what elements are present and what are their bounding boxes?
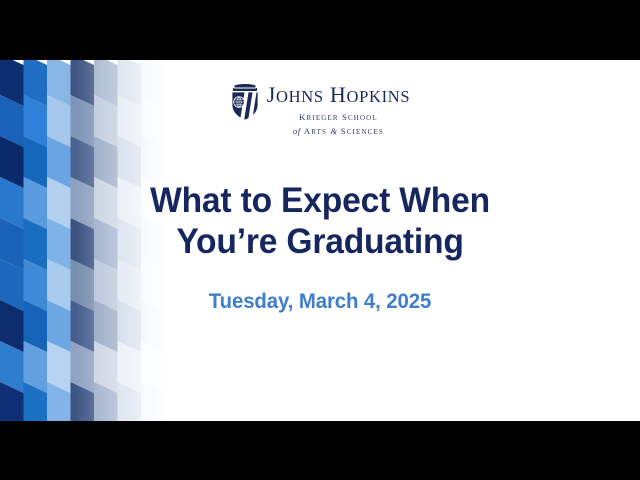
logo-division-line2: of ARTS & SCIENCES	[293, 126, 384, 137]
logo-wordmark: JOHNS HOPKINS	[267, 84, 411, 106]
division-ampersand: &	[330, 126, 337, 136]
wordmark-j: J	[267, 82, 276, 107]
slide-frame: JOHNS HOPKINS KRIEGER SCHOOL of ARTS & S…	[0, 0, 640, 480]
wordmark-ohns: OHNS	[276, 87, 324, 106]
page-title: What to Expect When You’re Graduating	[0, 181, 640, 263]
letterbox-bar-top	[0, 0, 640, 60]
division-rts: RTS	[311, 128, 327, 136]
slide-canvas: JOHNS HOPKINS KRIEGER SCHOOL of ARTS & S…	[0, 60, 640, 421]
division-chool: CHOOL	[348, 114, 378, 122]
title-line-1: What to Expect When	[13, 181, 627, 222]
division-k: K	[299, 112, 306, 122]
event-date: Tuesday, March 4, 2025	[10, 290, 631, 313]
wordmark-opkins: OPKINS	[347, 87, 411, 106]
division-ciences: CIENCES	[347, 128, 384, 136]
johns-hopkins-shield-icon	[230, 83, 260, 121]
title-line-2: You’re Graduating	[13, 222, 627, 263]
division-rieger: RIEGER	[307, 114, 339, 122]
slide-date-line: Tuesday, March 4, 2025	[0, 290, 640, 313]
division-of: of	[293, 126, 301, 136]
logo-text-block: JOHNS HOPKINS KRIEGER SCHOOL of ARTS & S…	[267, 83, 411, 138]
wordmark-h: H	[330, 82, 347, 107]
johns-hopkins-logo-lockup: JOHNS HOPKINS KRIEGER SCHOOL of ARTS & S…	[0, 83, 640, 138]
letterbox-bar-bottom	[0, 421, 640, 480]
logo-division-line1: KRIEGER SCHOOL	[299, 112, 378, 123]
